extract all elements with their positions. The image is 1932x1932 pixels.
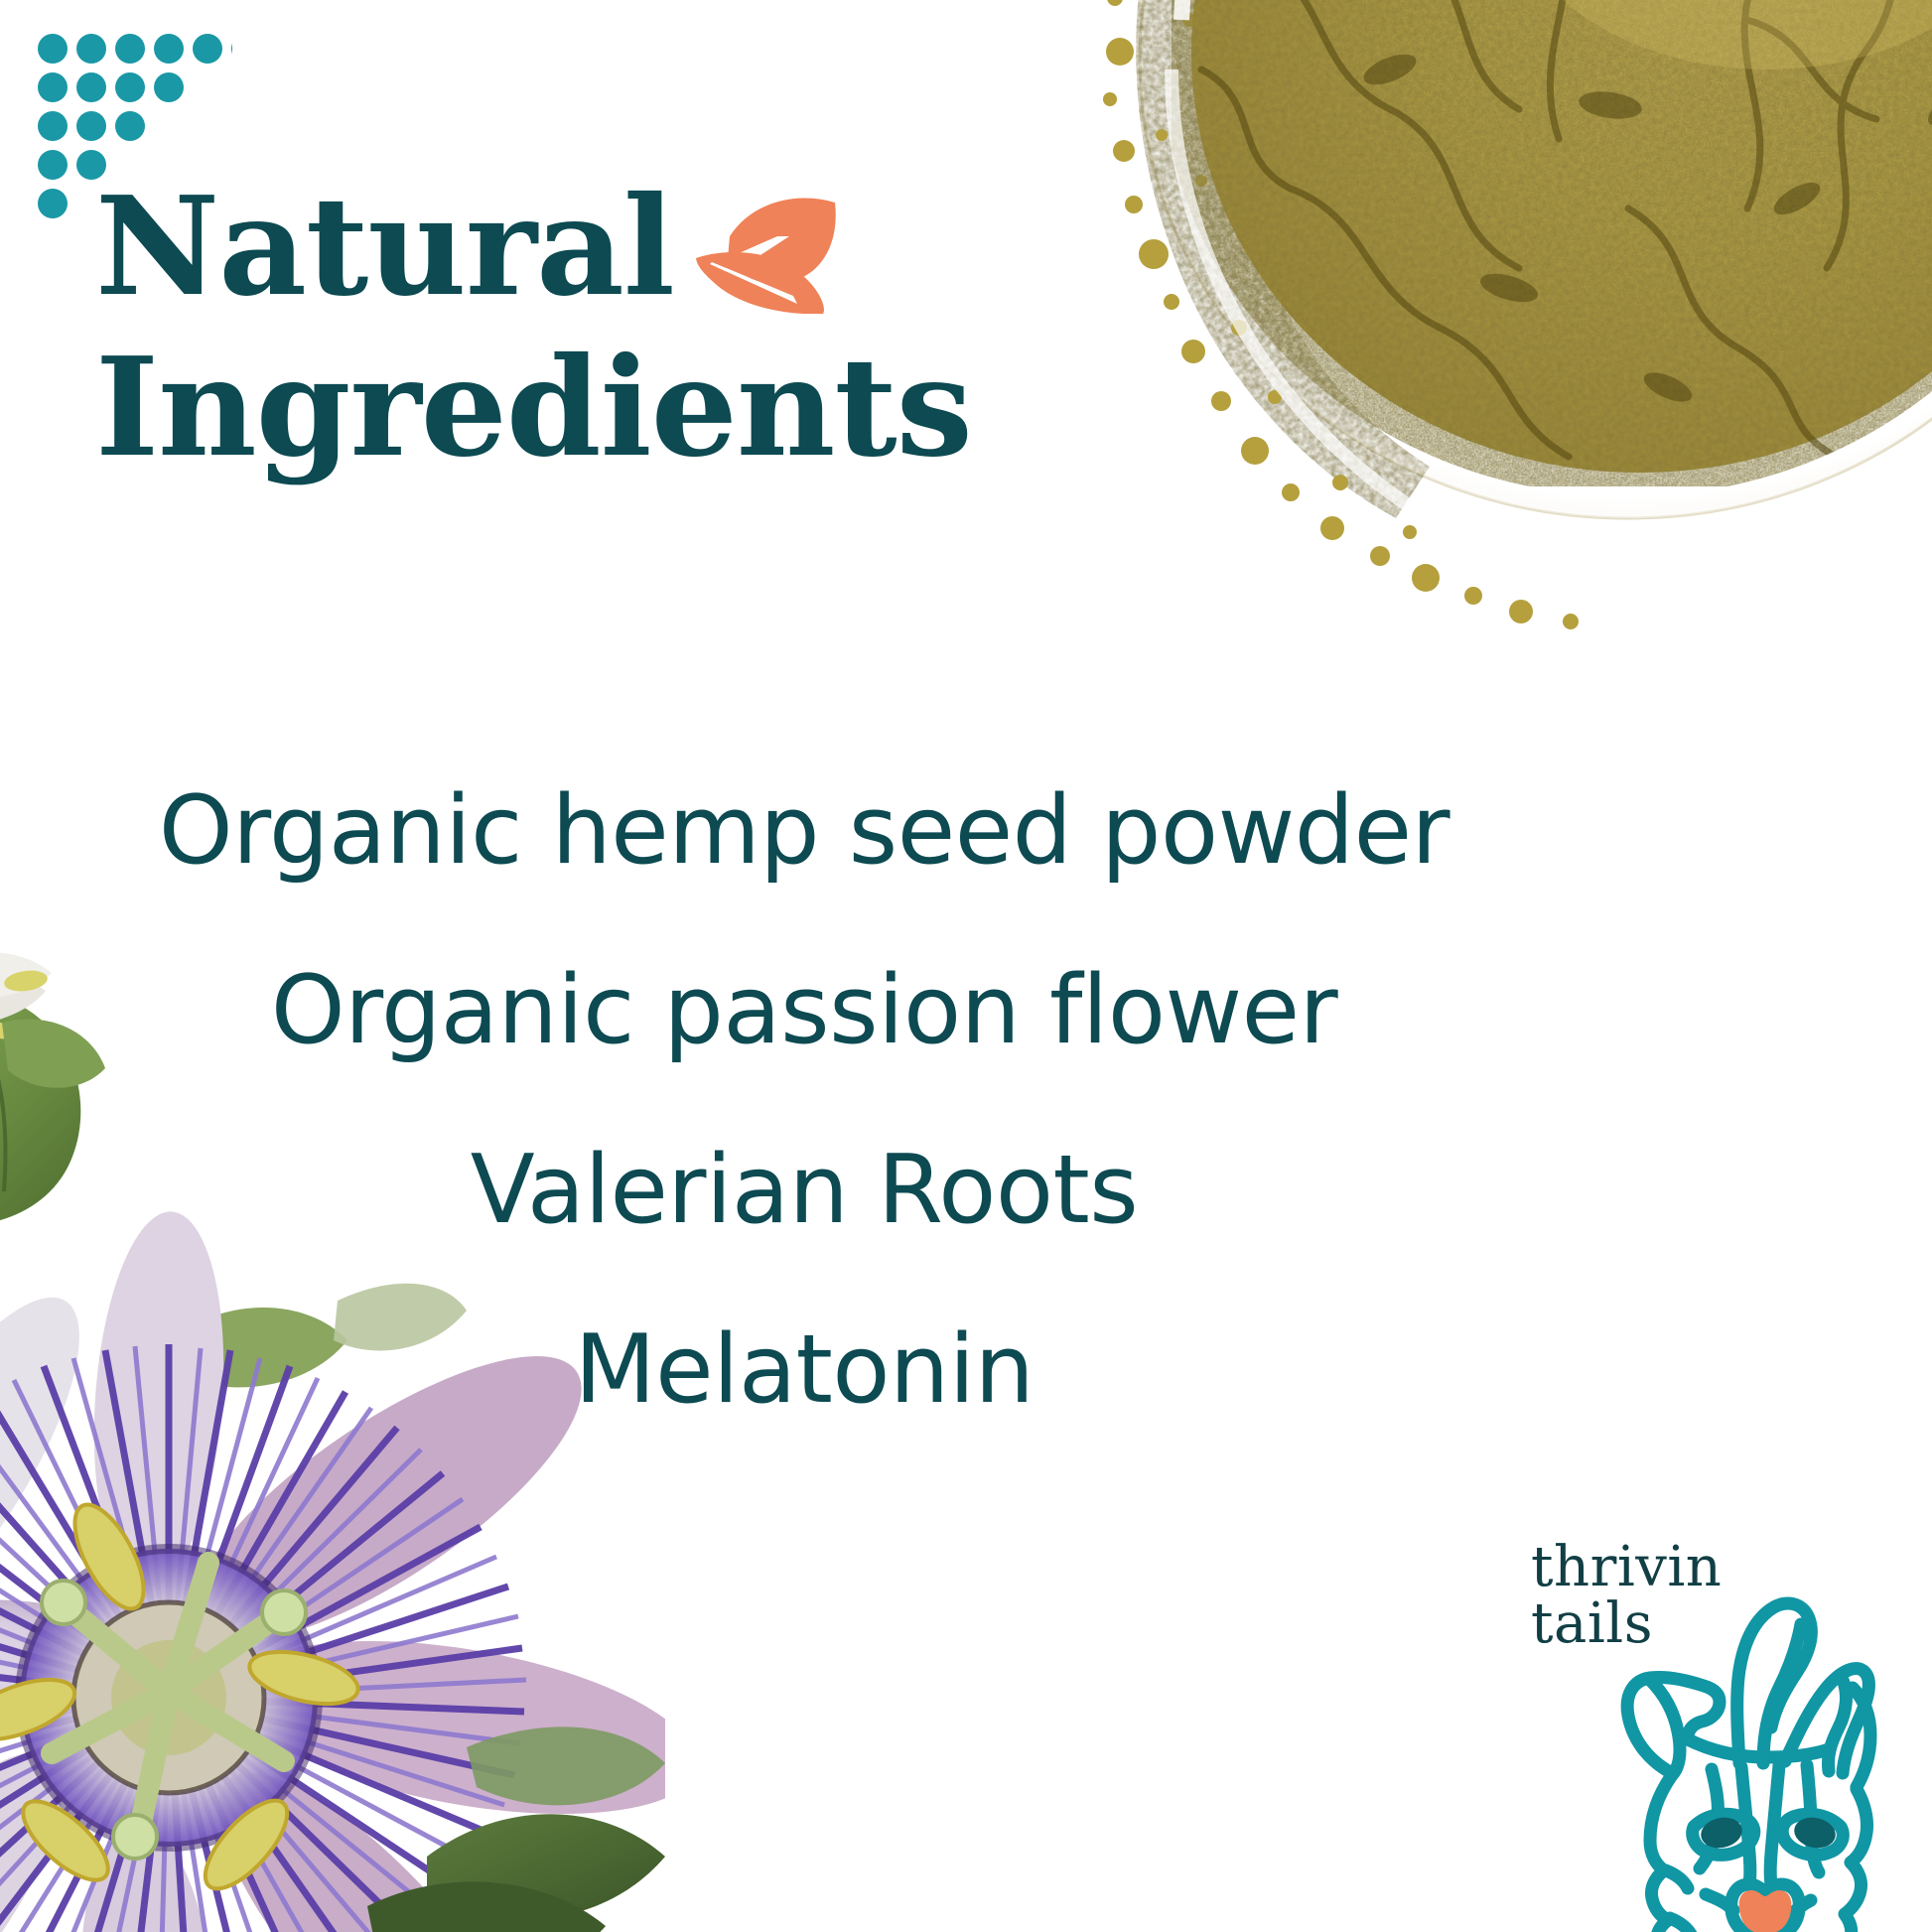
ingredient-item: Melatonin (0, 1323, 1608, 1418)
title-line-2: Ingredients (95, 328, 1187, 488)
page-title: Natural Ingredients (95, 167, 1187, 487)
dog-head-logo-icon (1555, 1561, 1932, 1932)
ingredients-list: Organic hemp seed powder Organic passion… (0, 784, 1608, 1418)
brand-logo: thrivin tails (1529, 1517, 1932, 1932)
ingredient-item: Valerian Roots (0, 1144, 1608, 1238)
ingredient-item: Organic passion flower (0, 964, 1608, 1058)
poster-canvas: Natural Ingredients (0, 0, 1932, 1932)
title-line-1: Natural (95, 167, 674, 328)
ingredient-item: Organic hemp seed powder (0, 784, 1608, 879)
leaf-icon (690, 193, 839, 314)
